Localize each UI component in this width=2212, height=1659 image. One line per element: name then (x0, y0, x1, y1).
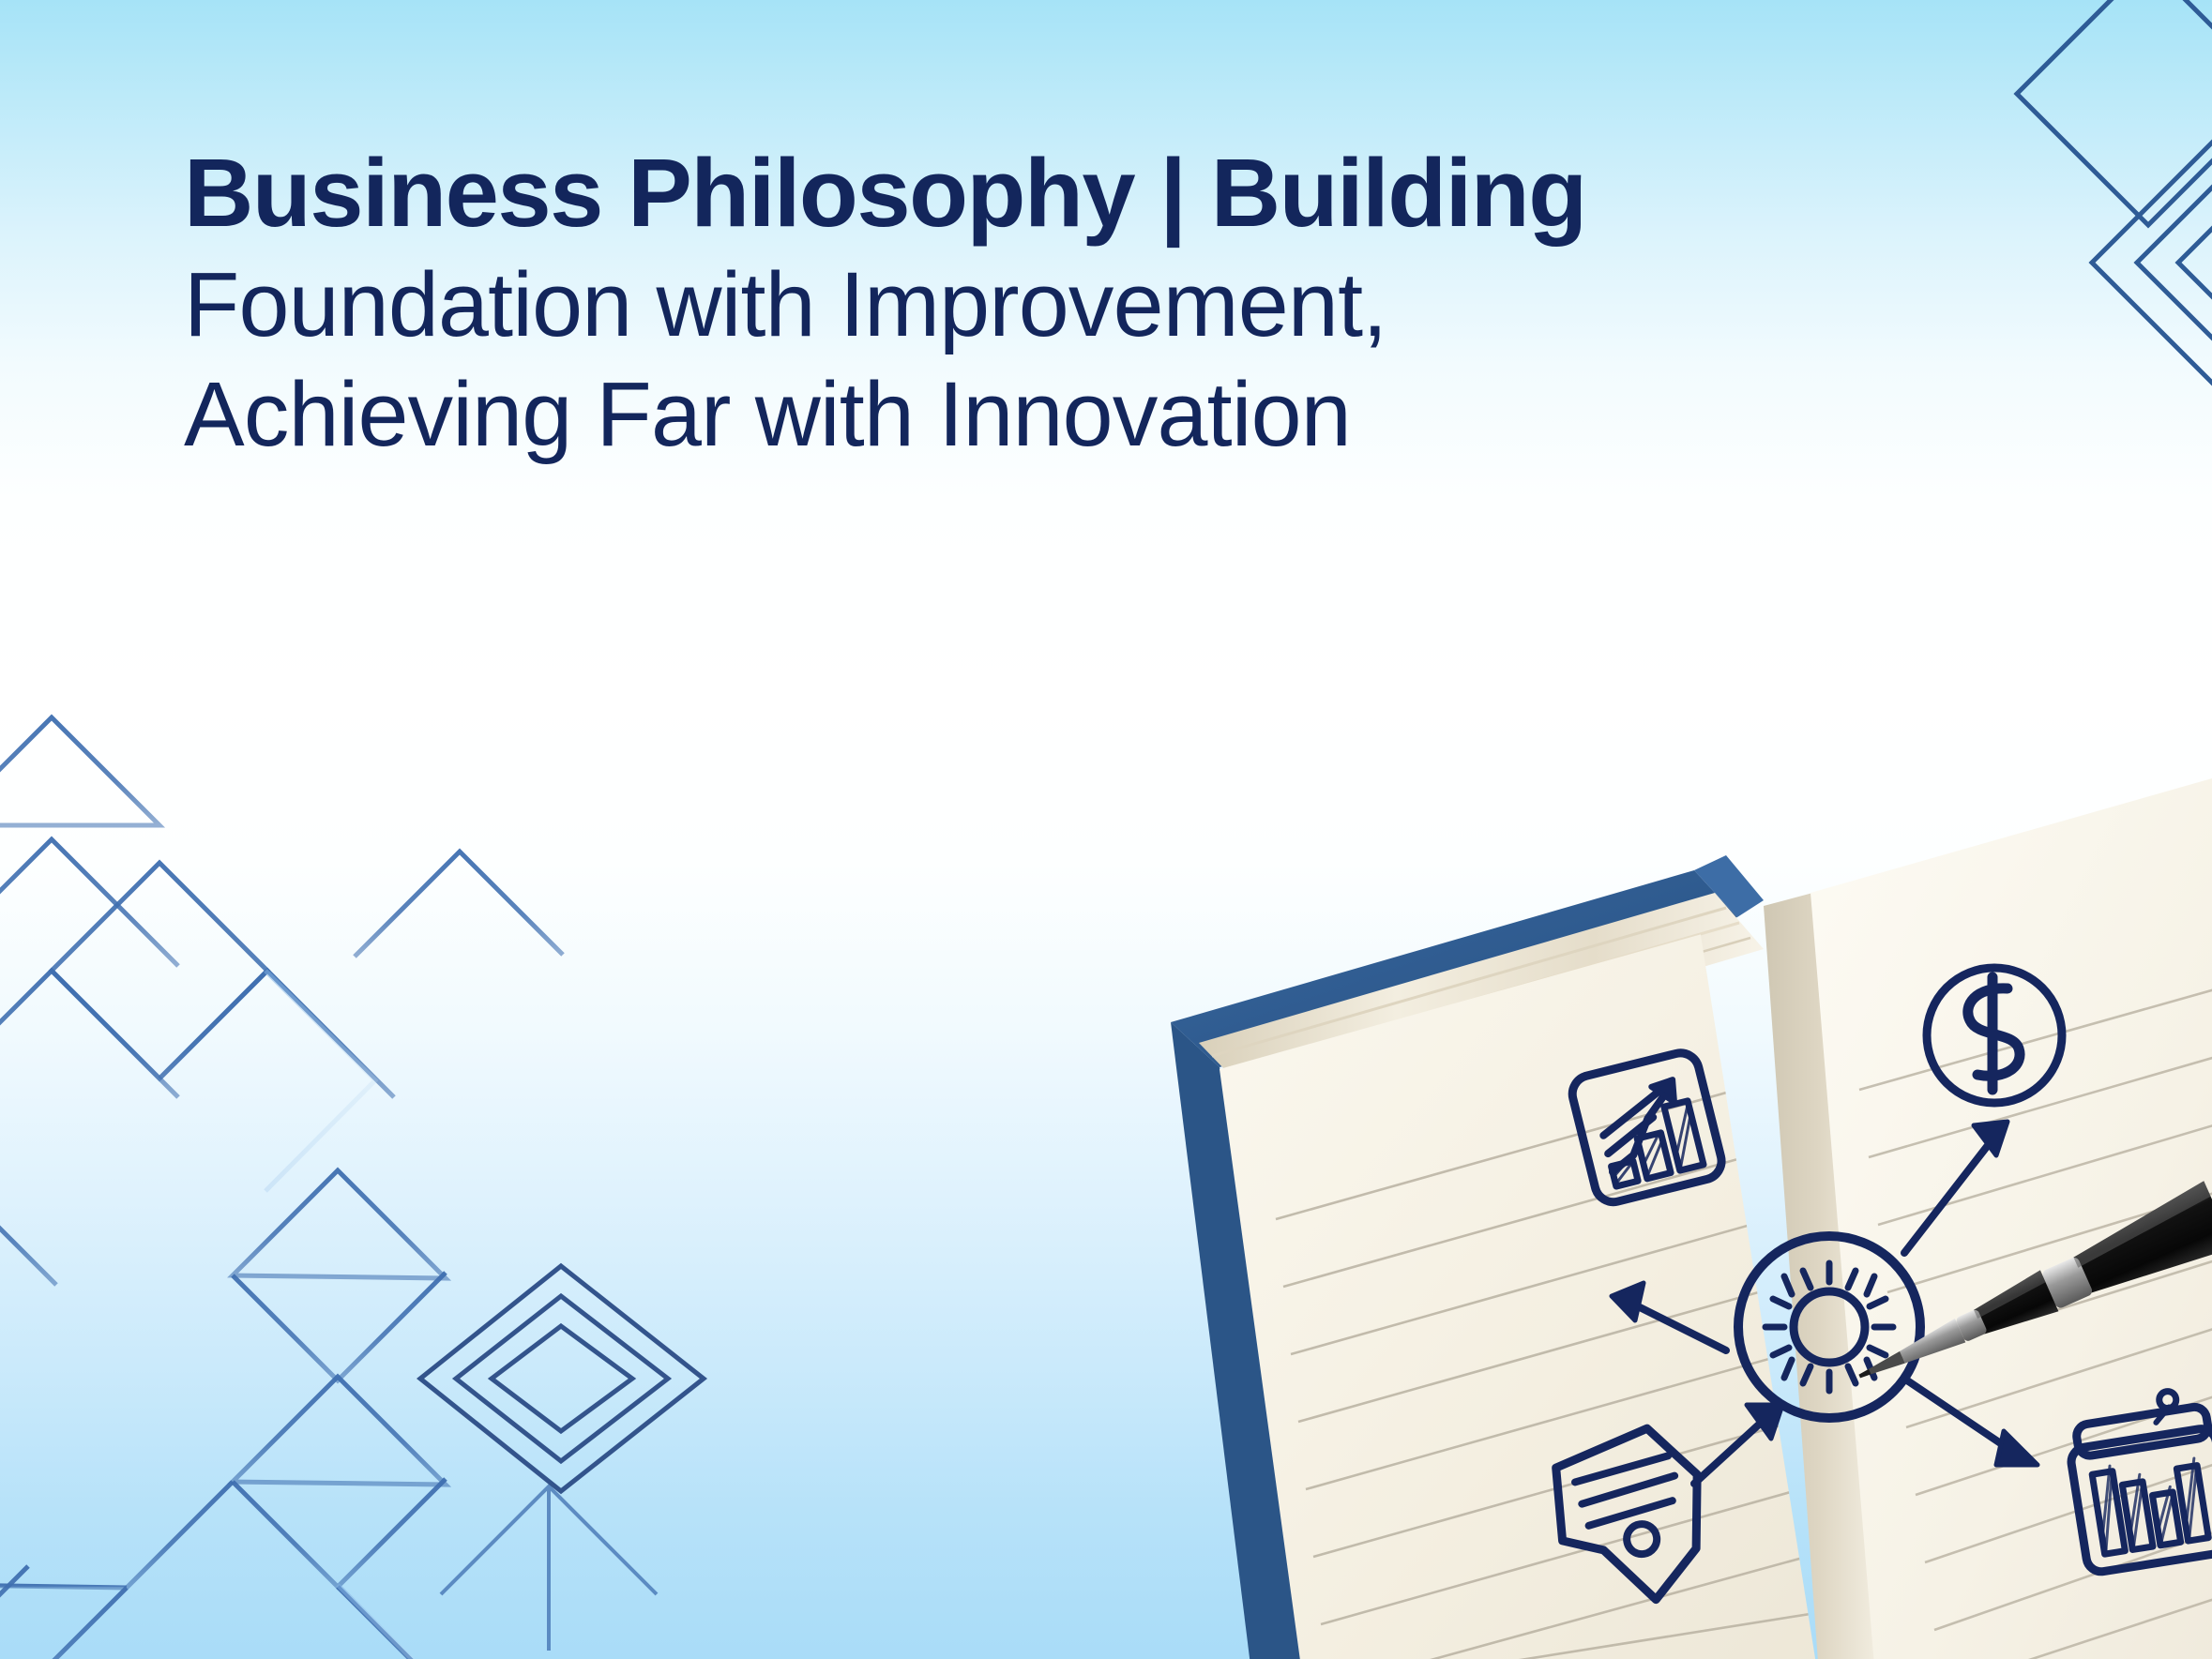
notebook-photo (1163, 619, 2212, 1659)
headline-block: Business Philosophy | Building Foundatio… (184, 141, 1891, 468)
top-right-diamond-cluster (2017, 0, 2212, 394)
headline-line-3: Achieving Far with Innovation (184, 361, 1891, 468)
bottom-left-lattice (0, 717, 563, 1659)
standalone-concentric-diamond (420, 1266, 704, 1491)
banner-canvas: Business Philosophy | Building Foundatio… (0, 0, 2212, 1659)
headline-line-1: Business Philosophy | Building (184, 141, 1891, 246)
mid-left-chevron-accent (441, 1486, 657, 1651)
headline-line-2: Foundation with Improvement, (184, 251, 1891, 358)
